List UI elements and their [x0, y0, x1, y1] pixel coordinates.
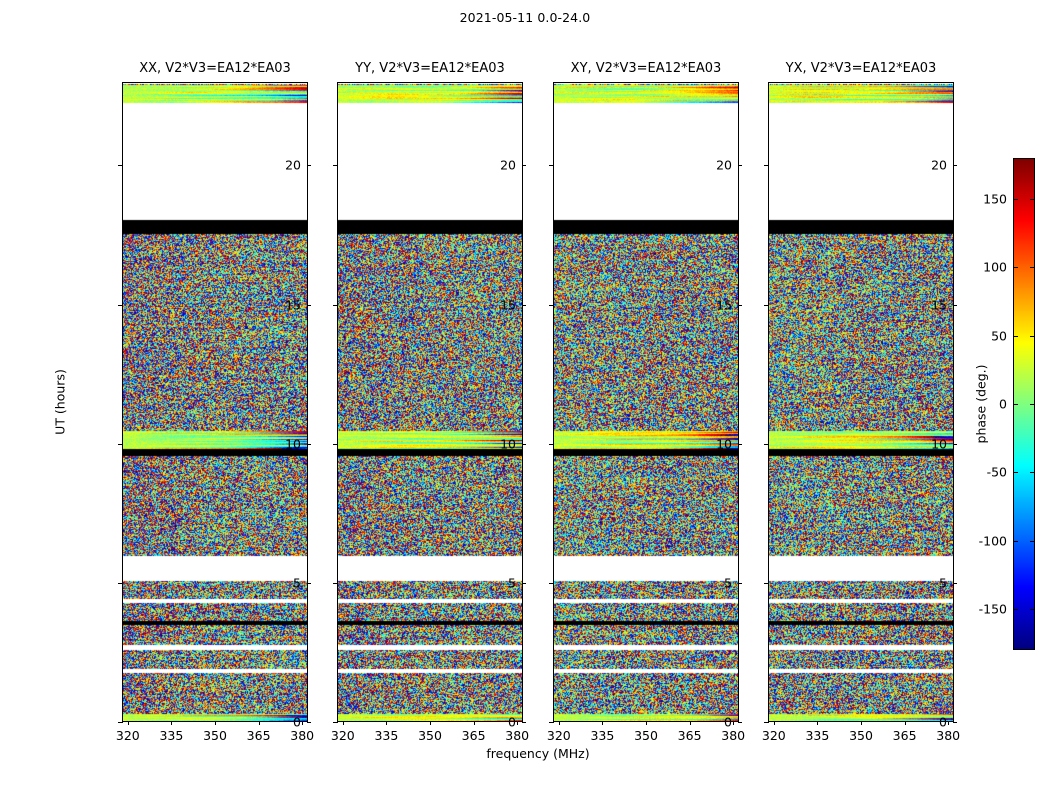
x-tick: [474, 721, 475, 725]
y-tick-right: [738, 305, 742, 306]
colorbar-tick: [1013, 267, 1018, 268]
colorbar-tick-right: [1030, 541, 1035, 542]
x-tick: [559, 721, 560, 725]
colorbar-tick-label: 50: [991, 328, 1007, 343]
y-tick-label: 15: [500, 297, 516, 312]
y-tick-right: [738, 165, 742, 166]
y-tick: [118, 583, 123, 584]
y-tick-label: 5: [724, 575, 732, 590]
y-tick-label: 20: [716, 158, 732, 173]
y-tick: [764, 583, 769, 584]
x-tick-label: 380: [721, 728, 745, 743]
x-tick-label: 335: [590, 728, 614, 743]
colorbar-label: phase (deg.): [974, 365, 989, 444]
panel-title-xy: XY, V2*V3=EA12*EA03: [571, 61, 722, 76]
x-tick: [215, 721, 216, 725]
y-tick-label: 5: [508, 575, 516, 590]
y-tick: [333, 444, 338, 445]
panel-yy: YY, V2*V3=EA12*EA03051015203203353503653…: [337, 82, 523, 722]
y-tick-label: 15: [285, 297, 301, 312]
y-tick-label: 10: [285, 436, 301, 451]
panel-title-yy: YY, V2*V3=EA12*EA03: [355, 61, 505, 76]
x-tick-label: 320: [547, 728, 571, 743]
colorbar-tick-label: -50: [987, 465, 1007, 480]
y-tick: [118, 305, 123, 306]
y-tick-right: [307, 583, 311, 584]
figure-suptitle: 2021-05-11 0.0-24.0: [0, 10, 1050, 25]
y-tick-label: 10: [500, 436, 516, 451]
panel-title-yx: YX, V2*V3=EA12*EA03: [786, 61, 937, 76]
y-tick: [118, 165, 123, 166]
y-tick-label: 20: [500, 158, 516, 173]
x-tick: [302, 721, 303, 725]
y-tick: [764, 165, 769, 166]
y-tick-right: [953, 305, 957, 306]
y-tick: [549, 722, 554, 723]
colorbar-tick-right: [1030, 609, 1035, 610]
x-tick-label: 320: [331, 728, 355, 743]
y-tick-right: [307, 722, 311, 723]
colorbar-tick: [1013, 541, 1018, 542]
colorbar-tick: [1013, 404, 1018, 405]
y-tick: [333, 583, 338, 584]
waterfall-canvas-xy: [554, 83, 738, 721]
matplotlib-figure: 2021-05-11 0.0-24.0 XX, V2*V3=EA12*EA030…: [0, 0, 1050, 800]
x-tick-label: 335: [159, 728, 183, 743]
y-tick: [549, 165, 554, 166]
x-tick: [259, 721, 260, 725]
x-tick: [905, 721, 906, 725]
y-tick-right: [522, 165, 526, 166]
x-tick: [602, 721, 603, 725]
colorbar-tick-label: -100: [979, 533, 1007, 548]
waterfall-canvas-xx: [123, 83, 307, 721]
x-tick-label: 350: [634, 728, 658, 743]
y-tick-right: [953, 165, 957, 166]
x-tick: [690, 721, 691, 725]
x-tick-label: 365: [247, 728, 271, 743]
x-tick-label: 335: [805, 728, 829, 743]
x-tick-label: 335: [374, 728, 398, 743]
colorbar-tick: [1013, 199, 1018, 200]
y-tick: [118, 444, 123, 445]
y-tick-label: 10: [931, 436, 947, 451]
y-axis-label: UT (hours): [53, 369, 68, 435]
colorbar-tick-right: [1030, 336, 1035, 337]
x-axis-label: frequency (MHz): [122, 746, 954, 761]
colorbar-tick-right: [1030, 267, 1035, 268]
waterfall-canvas-yx: [769, 83, 953, 721]
y-tick: [333, 305, 338, 306]
y-tick-right: [953, 444, 957, 445]
x-tick-label: 380: [290, 728, 314, 743]
y-tick-right: [522, 305, 526, 306]
y-tick: [118, 722, 123, 723]
x-tick: [948, 721, 949, 725]
colorbar: -150-100-50050100150: [1013, 158, 1035, 650]
y-tick-label: 20: [285, 158, 301, 173]
x-tick-label: 350: [418, 728, 442, 743]
y-tick-label: 20: [931, 158, 947, 173]
x-tick: [861, 721, 862, 725]
x-tick: [386, 721, 387, 725]
panel-yx: YX, V2*V3=EA12*EA03051015203203353503653…: [768, 82, 954, 722]
waterfall-canvas-yy: [338, 83, 522, 721]
colorbar-tick-label: 0: [999, 397, 1007, 412]
y-tick-right: [738, 722, 742, 723]
x-tick: [774, 721, 775, 725]
y-tick: [333, 722, 338, 723]
colorbar-tick-right: [1030, 199, 1035, 200]
colorbar-tick: [1013, 609, 1018, 610]
x-tick-label: 380: [936, 728, 960, 743]
x-tick: [517, 721, 518, 725]
y-tick-label: 5: [939, 575, 947, 590]
x-tick-label: 350: [203, 728, 227, 743]
colorbar-tick: [1013, 336, 1018, 337]
x-tick: [343, 721, 344, 725]
y-tick: [549, 444, 554, 445]
waterfall-yx[interactable]: [768, 82, 954, 722]
y-tick-label: 5: [293, 575, 301, 590]
x-tick-label: 380: [505, 728, 529, 743]
colorbar-tick-label: 150: [983, 192, 1007, 207]
y-tick-right: [738, 583, 742, 584]
colorbar-tick-right: [1030, 472, 1035, 473]
y-tick-label: 10: [716, 436, 732, 451]
x-tick-label: 365: [462, 728, 486, 743]
x-tick-label: 320: [116, 728, 140, 743]
x-tick: [817, 721, 818, 725]
y-tick-right: [307, 165, 311, 166]
y-tick-right: [522, 583, 526, 584]
colorbar-tick-label: 100: [983, 260, 1007, 275]
x-tick-label: 365: [893, 728, 917, 743]
y-tick-right: [738, 444, 742, 445]
x-tick: [128, 721, 129, 725]
y-tick-right: [522, 444, 526, 445]
x-tick: [171, 721, 172, 725]
y-tick-right: [953, 722, 957, 723]
y-tick: [764, 722, 769, 723]
x-tick: [430, 721, 431, 725]
x-tick-label: 365: [678, 728, 702, 743]
y-tick-label: 15: [931, 297, 947, 312]
y-tick: [549, 305, 554, 306]
panel-xy: XY, V2*V3=EA12*EA03051015203203353503653…: [553, 82, 739, 722]
y-tick-right: [522, 722, 526, 723]
y-tick: [333, 165, 338, 166]
colorbar-tick-right: [1030, 404, 1035, 405]
colorbar-tick-label: -150: [979, 602, 1007, 617]
waterfall-yy[interactable]: [337, 82, 523, 722]
y-tick-right: [307, 305, 311, 306]
y-tick: [764, 444, 769, 445]
x-tick: [733, 721, 734, 725]
x-tick: [646, 721, 647, 725]
y-tick-right: [307, 444, 311, 445]
waterfall-xy[interactable]: [553, 82, 739, 722]
colorbar-tick: [1013, 472, 1018, 473]
panel-title-xx: XX, V2*V3=EA12*EA03: [139, 61, 291, 76]
waterfall-xx[interactable]: [122, 82, 308, 722]
x-tick-label: 320: [762, 728, 786, 743]
y-tick: [549, 583, 554, 584]
x-tick-label: 350: [849, 728, 873, 743]
y-tick-right: [953, 583, 957, 584]
y-tick: [764, 305, 769, 306]
y-tick-label: 15: [716, 297, 732, 312]
panel-xx: XX, V2*V3=EA12*EA03051015203203353503653…: [122, 82, 308, 722]
